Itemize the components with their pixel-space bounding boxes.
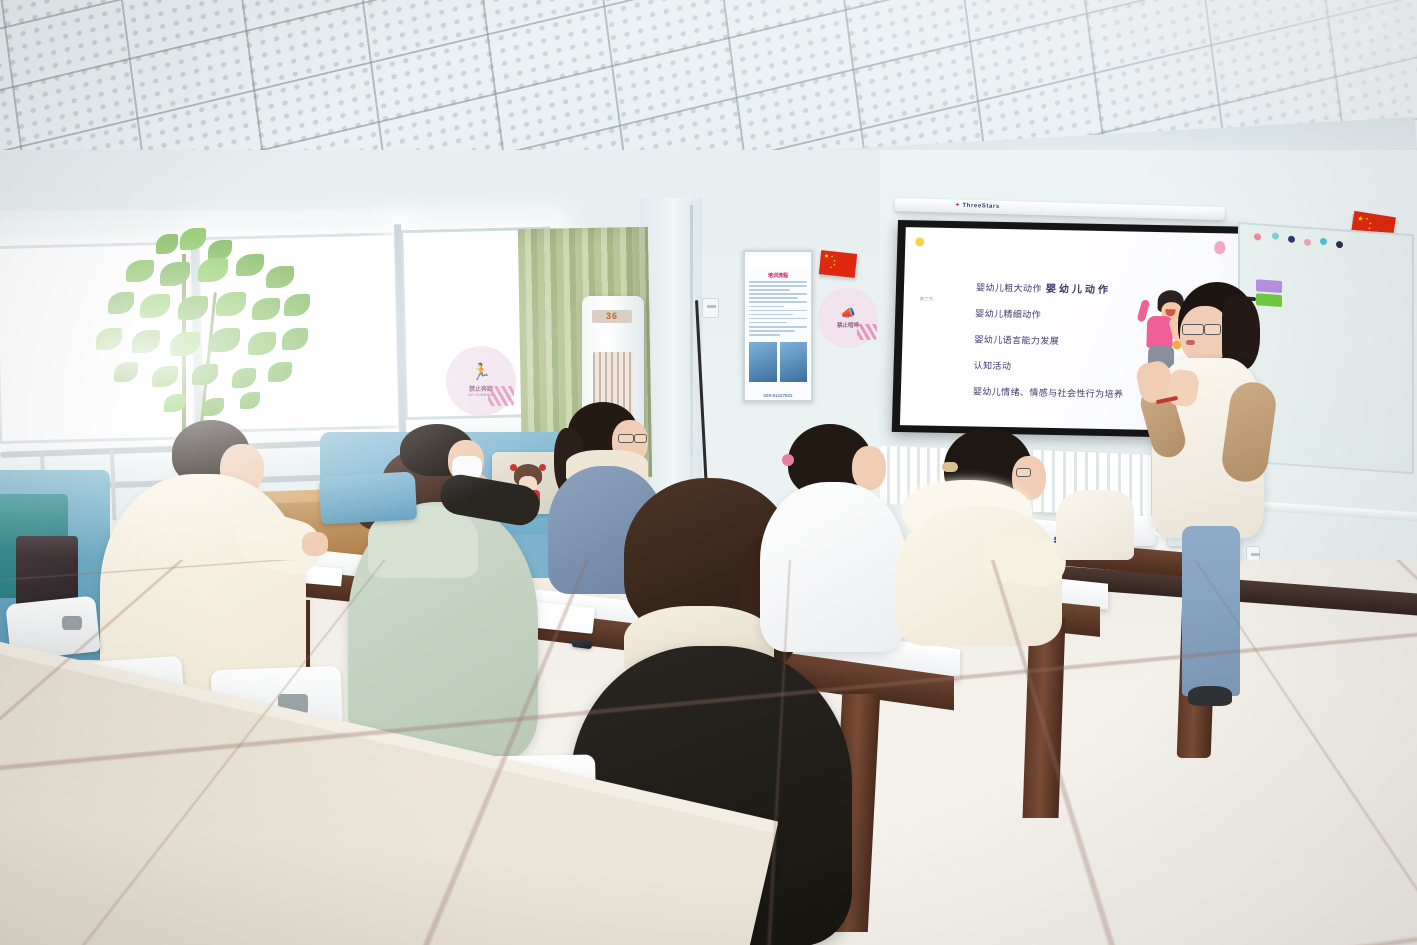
screen-brand-label: ThreeStars xyxy=(955,202,1000,210)
magnet-2[interactable] xyxy=(1272,232,1279,239)
poster-text-lines xyxy=(749,281,807,338)
poster-header xyxy=(747,253,809,270)
student-blue-glasses-2 xyxy=(634,434,647,443)
poster-title: 培训流程 xyxy=(743,272,813,279)
wall-poster: 培训流程 029-81227622 xyxy=(743,250,813,402)
student-fur-glasses xyxy=(1016,468,1031,477)
student-back-right-body xyxy=(1056,490,1134,560)
pink-hair-tie xyxy=(782,454,794,466)
magnet-4[interactable] xyxy=(1304,239,1311,246)
instructor-jeans xyxy=(1182,526,1240,696)
wall-switch[interactable] xyxy=(702,298,719,318)
slide-decor-balloon-pink xyxy=(1214,241,1225,254)
poster-photos xyxy=(749,342,807,382)
student-white-jacket-body xyxy=(760,482,906,652)
instructor-glasses-2 xyxy=(1204,324,1221,335)
instructor-mouth xyxy=(1186,340,1195,345)
student-blue-glasses xyxy=(618,434,634,443)
ac-display: 36 xyxy=(592,310,632,323)
megaphone-icon: 📣 xyxy=(841,307,856,319)
instructor-glasses xyxy=(1182,324,1204,335)
sign-no-running: 🏃 禁止奔跑 NO RUNNING xyxy=(446,346,516,416)
classroom-scene: 🏃 禁止奔跑 NO RUNNING xyxy=(0,0,1417,945)
potted-plant xyxy=(52,232,342,452)
magnet-1[interactable] xyxy=(1254,233,1261,240)
sign-no-noise: 📣 禁止喧哗 xyxy=(818,288,878,348)
student-white-jacket xyxy=(760,424,910,654)
instructor-shoe xyxy=(1188,686,1232,706)
student-masked-arm xyxy=(437,472,542,529)
student-fur-trim xyxy=(896,428,1076,648)
running-person-icon: 🏃 xyxy=(471,365,491,381)
student-back-right-partial xyxy=(1056,490,1136,570)
instructor xyxy=(1130,282,1300,732)
student-masked-black xyxy=(400,424,550,564)
hair-clip xyxy=(942,462,958,472)
magnet-3[interactable] xyxy=(1288,235,1295,242)
magnet-6[interactable] xyxy=(1336,241,1343,248)
poster-phone: 029-81227622 xyxy=(743,393,813,398)
sign-no-noise-label: 禁止喧哗 xyxy=(837,321,859,329)
student-white-face xyxy=(852,446,886,490)
china-flag-mid: ★ ★ ★ ★ ★ xyxy=(819,250,857,278)
magnet-5[interactable] xyxy=(1320,238,1327,245)
slide-decor-dot-yellow xyxy=(915,237,924,246)
slide-side-text: 第三节 xyxy=(919,293,933,305)
student-front-left-hand xyxy=(302,532,328,556)
